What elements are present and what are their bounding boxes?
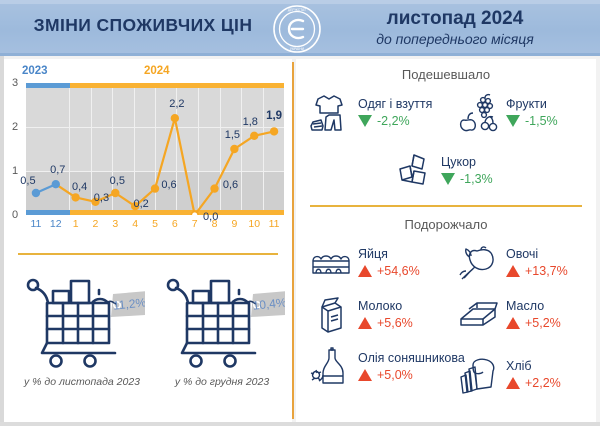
y-tick-label: 3 (12, 77, 18, 89)
infographic-page: ЗМІНИ СПОЖИВЧИХ ЦІН ДЕРЖСТАТ УКРАЇНИ лис… (0, 0, 600, 426)
x-tick-label: 5 (152, 218, 158, 230)
butter-icon (456, 295, 502, 335)
clothing-shoes-icon (308, 93, 354, 133)
x-tick-label: 3 (112, 218, 118, 230)
y-tick-label: 0 (12, 209, 18, 221)
data-point-label: 0,3 (94, 192, 109, 204)
pricier-item-milk: Молоко +5,6% (308, 295, 413, 335)
item-name: Молоко (358, 300, 413, 313)
x-tick-label: 1 (73, 218, 79, 230)
derzhstat-emblem-icon: ДЕРЖСТАТ УКРАЇНИ (272, 4, 322, 54)
arrow-up-icon (506, 377, 520, 389)
page-title: ЗМІНИ СПОЖИВЧИХ ЦІН (18, 15, 268, 36)
arrow-up-icon (358, 369, 372, 381)
pricier-item-butter: Масло +5,2% (456, 295, 561, 335)
cart-block-december: 10,4% у % до грудня 2023 (152, 269, 292, 388)
legend-2024: 2024 (144, 65, 170, 77)
vegetables-icon (456, 243, 502, 283)
x-tick-label: 2 (93, 218, 99, 230)
right-panel: Подешевшало Одяг і взуття -2,2% (296, 59, 596, 422)
arrow-down-icon (358, 115, 372, 127)
report-period: листопад 2024 до попереднього місяця (330, 8, 580, 47)
data-point-label: 1,5 (225, 129, 240, 141)
pricier-item-bread: Хліб +2,2% (456, 355, 561, 395)
item-value: +13,7% (525, 264, 568, 278)
arrow-down-icon (441, 173, 455, 185)
shopping-cart-icon: 11,2% (20, 269, 145, 369)
y-tick-label: 1 (12, 165, 18, 177)
cheaper-item-clothing: Одяг і взуття -2,2% (308, 93, 432, 133)
left-section-divider (18, 253, 278, 255)
legend-2023: 2023 (22, 65, 48, 77)
panel-vertical-divider (292, 62, 294, 419)
pricier-section-title: Подорожчало (296, 217, 596, 232)
item-name: Хліб (506, 360, 561, 373)
x-tick-label: 10 (248, 218, 260, 230)
arrow-down-icon (506, 115, 520, 127)
arrow-up-icon (506, 317, 520, 329)
data-point-label: 0,2 (133, 198, 148, 210)
milk-icon (308, 295, 354, 335)
data-point-label: 0,6 (161, 179, 176, 191)
item-value: -2,2% (377, 114, 410, 128)
cheaper-item-sugar: Цукор -1,3% (391, 151, 493, 191)
data-point-label: 0,6 (223, 179, 238, 191)
x-tick-label: 7 (192, 218, 198, 230)
shopping-cart-icon: 10,4% (160, 269, 285, 369)
item-name: Овочі (506, 248, 568, 261)
fruits-icon (456, 93, 502, 133)
data-point-label: 0,0 (203, 211, 218, 223)
cart-comparison-section: 11,2% у % до листопада 2023 (4, 269, 292, 414)
pricier-item-vegetables: Овочі +13,7% (456, 243, 568, 283)
pricier-item-eggs: Яйця +54,6% (308, 243, 420, 283)
data-point-label: 0,7 (50, 164, 65, 176)
x-tick-label: 11 (30, 218, 41, 230)
item-name: Одяг і взуття (358, 98, 432, 111)
arrow-up-icon (506, 265, 520, 277)
sugar-icon (391, 151, 437, 191)
header-bar: ЗМІНИ СПОЖИВЧИХ ЦІН ДЕРЖСТАТ УКРАЇНИ лис… (0, 0, 600, 56)
item-value: +54,6% (377, 264, 420, 278)
x-tick-label: 11 (269, 218, 280, 230)
x-tick-label: 6 (172, 218, 178, 230)
data-point-label: 0,5 (110, 175, 125, 187)
pricier-item-sunflower-oil: Олія соняшникова +5,0% (308, 347, 465, 387)
data-point-label: 1,9 (266, 110, 282, 122)
x-tick-label: 4 (132, 218, 138, 230)
header-bottom-strip (0, 53, 600, 56)
cart-caption: у % до листопада 2023 (12, 376, 152, 388)
item-value: -1,5% (525, 114, 558, 128)
cheaper-item-fruits: Фрукти -1,5% (456, 93, 558, 133)
cart-caption: у % до грудня 2023 (152, 376, 292, 388)
cart-block-november: 11,2% у % до листопада 2023 (12, 269, 152, 388)
eggs-icon (308, 243, 354, 283)
item-name: Олія соняшникова (358, 352, 465, 365)
chart-plot-area (26, 83, 284, 215)
item-name: Масло (506, 300, 561, 313)
x-tick-label: 12 (50, 218, 62, 230)
data-point-label: 1,8 (243, 116, 258, 128)
arrow-up-icon (358, 265, 372, 277)
left-panel: 2023 2024 (4, 59, 292, 422)
arrow-up-icon (358, 317, 372, 329)
item-value: +5,0% (377, 368, 413, 382)
item-value: -1,3% (460, 172, 493, 186)
cheaper-section-title: Подешевшало (296, 67, 596, 82)
item-value: +2,2% (525, 376, 561, 390)
sunflower-oil-icon (308, 347, 354, 387)
report-comparison: до попереднього місяця (330, 31, 580, 47)
cpi-line-chart: 2023 2024 (4, 63, 292, 245)
bread-icon (456, 355, 502, 395)
item-name: Фрукти (506, 98, 558, 111)
item-name: Цукор (441, 156, 493, 169)
data-point-label: 2,2 (169, 98, 184, 110)
item-value: +5,2% (525, 316, 561, 330)
item-name: Яйця (358, 248, 420, 261)
chart-series-svg (26, 83, 284, 215)
item-value: +5,6% (377, 316, 413, 330)
data-point-label: 0,4 (72, 181, 87, 193)
right-section-divider (310, 205, 582, 207)
y-tick-label: 2 (12, 121, 18, 133)
report-month: листопад 2024 (330, 8, 580, 30)
svg-text:ДЕРЖСТАТ: ДЕРЖСТАТ (288, 8, 306, 12)
svg-text:УКРАЇНИ: УКРАЇНИ (290, 47, 305, 51)
bottom-shadow-strip (0, 422, 600, 426)
x-tick-label: 9 (231, 218, 237, 230)
data-point-label: 0,5 (20, 175, 35, 187)
